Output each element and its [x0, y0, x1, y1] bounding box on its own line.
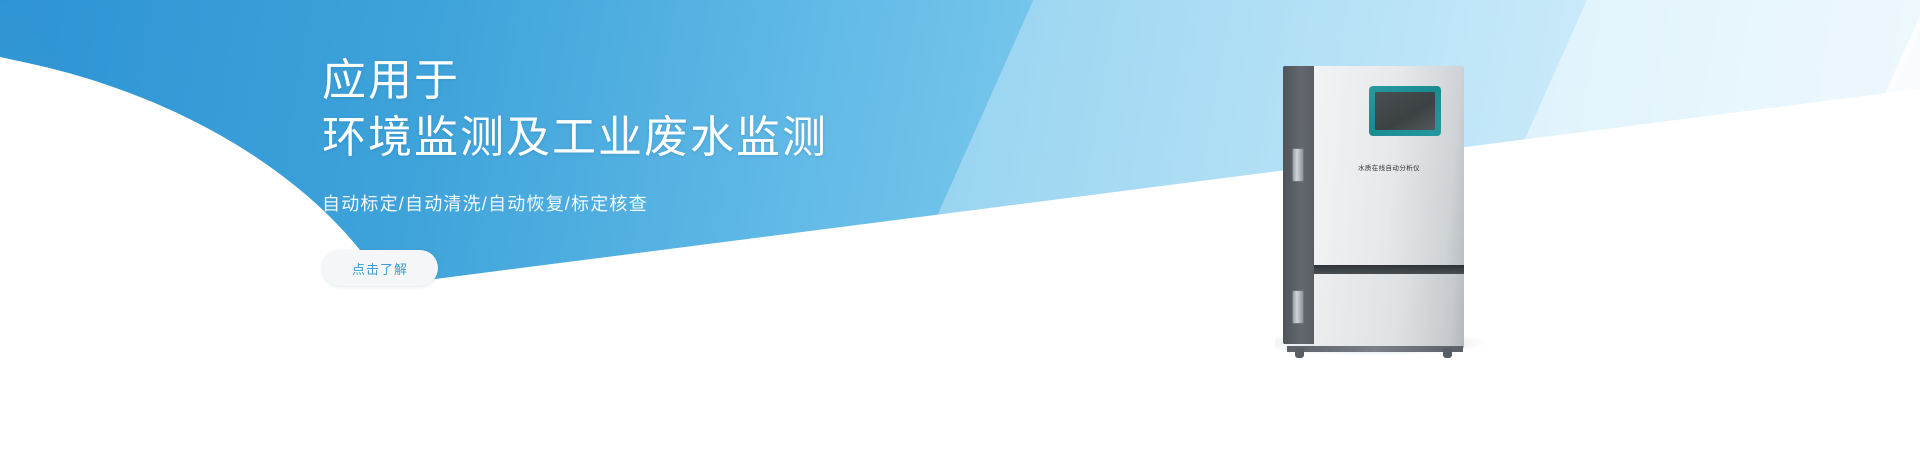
analyzer-display-screen [1375, 92, 1435, 130]
learn-more-button[interactable]: 点击了解 [322, 250, 438, 286]
hero-banner: 应用于 环境监测及工业废水监测 自动标定/自动清洗/自动恢复/标定核查 点击了解… [0, 0, 1920, 450]
cabinet-door-seam [1314, 265, 1464, 274]
cabinet-lower-door [1314, 274, 1464, 348]
cabinet-base [1287, 346, 1463, 352]
analyzer-display-bezel [1369, 86, 1441, 136]
cabinet-foot-left [1295, 348, 1304, 358]
product-image-analyzer: 水质在线自动分析仪 [1283, 62, 1478, 352]
hero-subtitle: 自动标定/自动清洗/自动恢复/标定核查 [322, 190, 1082, 216]
headline-line-2: 环境监测及工业废水监测 [322, 109, 1082, 166]
cabinet-foot-right [1443, 348, 1452, 358]
hero-content: 应用于 环境监测及工业废水监测 自动标定/自动清洗/自动恢复/标定核查 点击了解 [322, 0, 1082, 450]
cabinet-handle-lower [1292, 290, 1304, 324]
product-label: 水质在线自动分析仪 [1314, 162, 1464, 172]
headline-line-1: 应用于 [322, 0, 1082, 109]
page-title: 应用于 环境监测及工业废水监测 [322, 0, 1082, 166]
cabinet-handle-upper [1292, 148, 1304, 182]
